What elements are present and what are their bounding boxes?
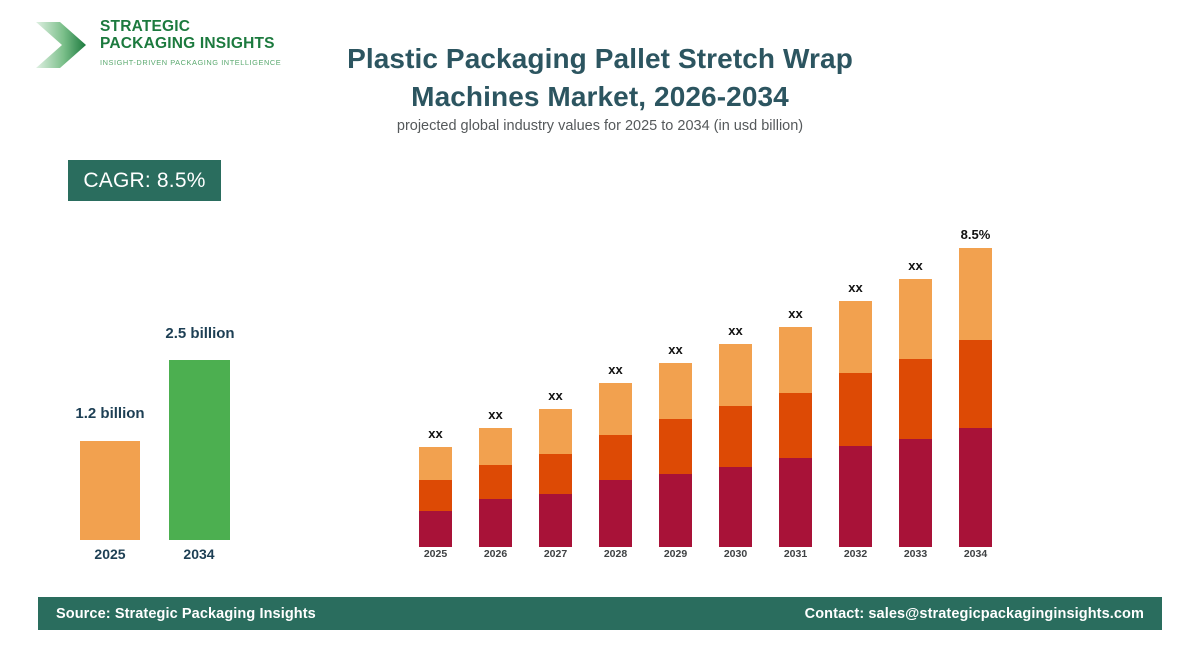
- stacked-bar: [959, 248, 992, 547]
- bar-segment-segment3: [719, 344, 752, 406]
- comparison-start-value: 1.2 billion: [40, 405, 180, 422]
- bar-segment-segment3: [479, 428, 512, 465]
- bar-value-label: 8.5%: [943, 227, 1008, 242]
- bar-segment-segment2: [959, 340, 992, 428]
- comparison-end-bar: [169, 360, 230, 540]
- bar-segment-segment3: [539, 409, 572, 454]
- bar-year-label: 2034: [945, 548, 1006, 560]
- bar-segment-segment1: [959, 428, 992, 547]
- stacked-bar-chart: xx2025xx2026xx2027xx2028xx2029xx2030xx20…: [400, 190, 1020, 560]
- bar-segment-segment2: [779, 393, 812, 458]
- bar-segment-segment3: [899, 279, 932, 359]
- bar-segment-segment3: [959, 248, 992, 340]
- bar-segment-segment2: [839, 373, 872, 446]
- chart-title: Plastic Packaging Pallet Stretch Wrap Ma…: [300, 40, 900, 116]
- infographic-canvas: STRATEGIC PACKAGING INSIGHTS INSIGHT-DRI…: [0, 0, 1200, 650]
- bar-year-label: 2033: [885, 548, 946, 560]
- bar-year-label: 2028: [585, 548, 646, 560]
- bar-segment-segment1: [779, 458, 812, 547]
- bar-segment-segment1: [539, 494, 572, 547]
- bar-value-label: xx: [823, 280, 888, 295]
- bar-year-label: 2025: [405, 548, 466, 560]
- bar-year-label: 2027: [525, 548, 586, 560]
- bar-segment-segment1: [899, 439, 932, 547]
- bar-segment-segment1: [599, 480, 632, 547]
- bar-segment-segment2: [479, 465, 512, 499]
- stacked-bar: [779, 327, 812, 547]
- bar-segment-segment3: [659, 363, 692, 419]
- stacked-bar: [899, 279, 932, 547]
- stacked-bar: [479, 428, 512, 547]
- comparison-bar-group: 1.2 billion 2025 2.5 billion 2034: [0, 0, 300, 650]
- stacked-bar: [839, 301, 872, 547]
- bar-year-label: 2030: [705, 548, 766, 560]
- bar-value-label: xx: [403, 426, 468, 441]
- bar-segment-segment2: [899, 359, 932, 439]
- bar-segment-segment3: [419, 447, 452, 480]
- bar-value-label: xx: [763, 306, 828, 321]
- bar-value-label: xx: [463, 407, 528, 422]
- stacked-bar: [659, 363, 692, 547]
- bar-segment-segment3: [779, 327, 812, 393]
- bar-year-label: 2026: [465, 548, 526, 560]
- bar-value-label: xx: [703, 323, 768, 338]
- bar-value-label: xx: [643, 342, 708, 357]
- bar-value-label: xx: [523, 388, 588, 403]
- bar-segment-segment1: [479, 499, 512, 547]
- comparison-start-bar: [80, 441, 140, 540]
- bar-segment-segment1: [839, 446, 872, 547]
- bar-value-label: xx: [583, 362, 648, 377]
- bar-segment-segment2: [419, 480, 452, 511]
- comparison-end-year: 2034: [139, 546, 259, 562]
- bar-year-label: 2029: [645, 548, 706, 560]
- bar-segment-segment2: [719, 406, 752, 467]
- bar-year-label: 2032: [825, 548, 886, 560]
- bar-year-label: 2031: [765, 548, 826, 560]
- stacked-bar: [599, 383, 632, 547]
- stacked-bar: [539, 409, 572, 547]
- bar-segment-segment3: [599, 383, 632, 435]
- bar-segment-segment2: [599, 435, 632, 480]
- bar-segment-segment1: [719, 467, 752, 547]
- footer-bar: Source: Strategic Packaging Insights Con…: [38, 597, 1162, 630]
- bar-segment-segment3: [839, 301, 872, 373]
- chart-subtitle: projected global industry values for 202…: [300, 116, 900, 136]
- bar-segment-segment2: [539, 454, 572, 494]
- footer-contact: Contact: sales@strategicpackaginginsight…: [805, 606, 1144, 622]
- comparison-end-value: 2.5 billion: [130, 325, 270, 342]
- stacked-bar: [719, 344, 752, 547]
- bar-segment-segment1: [419, 511, 452, 547]
- bar-segment-segment2: [659, 419, 692, 474]
- bar-segment-segment1: [659, 474, 692, 547]
- stacked-bar: [419, 447, 452, 547]
- footer-source: Source: Strategic Packaging Insights: [56, 606, 316, 622]
- bar-value-label: xx: [883, 258, 948, 273]
